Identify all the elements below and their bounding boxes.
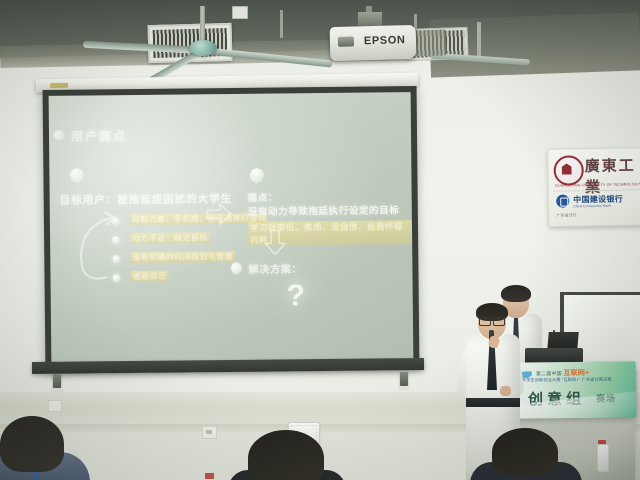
presenter-front-belt: [466, 398, 520, 407]
floor-marker: [205, 473, 214, 479]
projector: EPSON: [330, 25, 417, 61]
presenter-front-glasses: [479, 317, 505, 324]
block-arrow-down-icon: [264, 229, 286, 255]
bullet-text: 逃避自己: [130, 271, 168, 282]
bank-name-en: China Construction Bank: [573, 204, 611, 209]
podium-banner: 第二届中国 互联网+ 大学生创新创业大赛 "互联网+" 广东省分赛决赛 创意组 …: [508, 361, 637, 418]
screen-wall-mount: [400, 372, 408, 386]
presentation-slide: 用户痛点 目标用户：被拖延症困扰的大学生 自制力差：手机瘾，熬夜通宵打游戏 动: [49, 92, 414, 365]
ceiling-junction-box: [232, 6, 248, 19]
bank-branch: 广东省分行: [556, 212, 576, 218]
right-column-marker-icon: [249, 168, 264, 184]
sponsor-signboard: 廣東工業 GUANGDONG UNIVERSITY OF TECHNOLOGY …: [547, 147, 640, 227]
right-column-heading: 痛点： 没有动力导致拖延执行设定的目标: [248, 190, 400, 220]
photo-scene: EPSON 用户痛点 目标用户：被拖延症困扰的大学生: [0, 0, 640, 480]
university-emblem-icon: [553, 155, 584, 186]
bullet-dot-icon: [112, 236, 120, 244]
projector-mount: [358, 12, 382, 26]
banner-sub-title: 赛场: [596, 392, 616, 405]
water-bottle: [597, 444, 609, 472]
ceiling-fan-rod: [200, 6, 205, 44]
bullet-dot-icon: [112, 217, 120, 225]
bullet-text: 没有明确的时间规划与管理: [130, 251, 235, 263]
projector-brand-label: EPSON: [364, 34, 406, 47]
pain-point-label: 痛点：: [248, 193, 278, 204]
screen-wall-mount: [53, 374, 61, 388]
ceiling-fan-rod-secondary: [477, 22, 481, 56]
left-column-marker-icon: [69, 168, 84, 184]
presenter-back-glasses: [505, 299, 527, 305]
bullet-dot-icon: [112, 274, 120, 282]
banner-main-title: 创意组: [528, 388, 585, 410]
projection-screen-surface: 用户痛点 目标用户：被拖延症困扰的大学生 自制力差：手机瘾，熬夜通宵打游戏 动: [49, 92, 414, 365]
wall-socket: [202, 426, 217, 439]
ceiling-hanger-rod: [280, 10, 283, 38]
solution-label: 解决方案：: [248, 260, 302, 276]
ceiling-fan-hub: [189, 40, 217, 56]
projection-screen: 用户痛点 目标用户：被拖延症困扰的大学生 自制力差：手机瘾，熬夜通宵打游戏 动: [43, 86, 420, 371]
slide-title: 用户痛点: [71, 127, 127, 145]
projector-lens: [338, 36, 354, 46]
bullet-text: 动力不足：缺乏目标: [130, 232, 210, 244]
presenter-front-hand-lower: [500, 386, 511, 396]
solution-marker-icon: [230, 262, 242, 275]
question-mark: ?: [287, 279, 306, 313]
audience-center-head: [248, 430, 324, 480]
banner-line-2: 大学生创新创业大赛 "互联网+" 广东省分赛决赛: [522, 377, 612, 384]
block-arrow-right-icon: [206, 202, 232, 226]
bank-logo-icon: [556, 194, 569, 207]
audience-right-head: [492, 428, 558, 476]
screen-casing-tab: [50, 83, 68, 88]
audience-left-head: [0, 416, 64, 472]
bullet-dot-icon: [112, 255, 120, 263]
wall-switch-box: [48, 400, 62, 412]
slide-title-bullet-icon: [53, 130, 65, 141]
projector-vent-grille: [412, 29, 447, 56]
pain-point-text: 没有动力导致拖延执行设定的目标: [248, 205, 400, 218]
